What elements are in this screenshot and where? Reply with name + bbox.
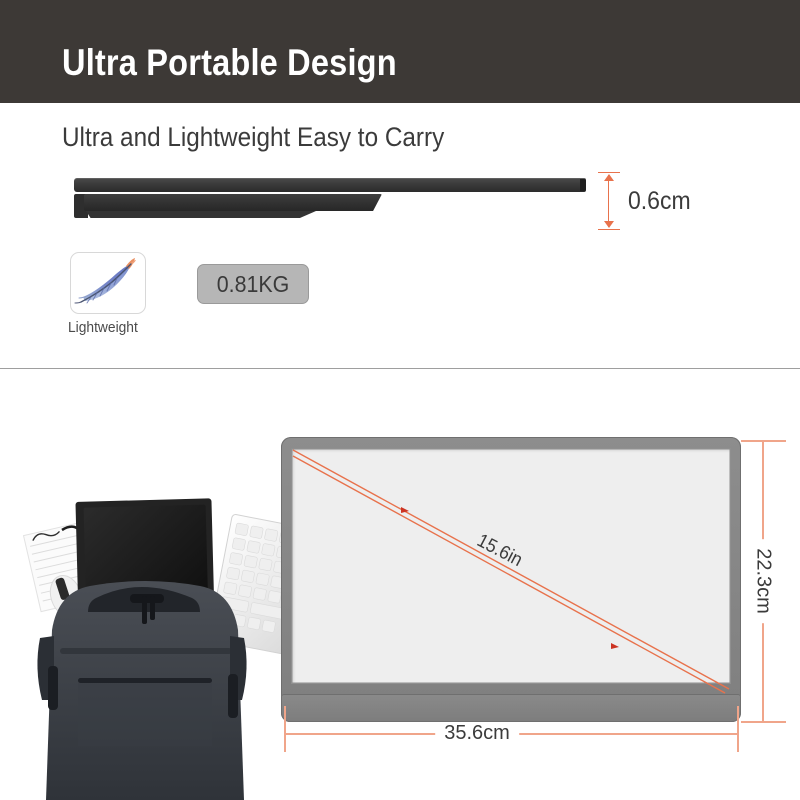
page-title: Ultra Portable Design xyxy=(62,42,397,84)
thickness-dimension-arrow xyxy=(598,172,620,230)
profile-upper-slab xyxy=(74,178,586,192)
backpack-illustration xyxy=(37,581,246,800)
monitor-side-profile-illustration xyxy=(66,178,586,224)
weight-value: 0.81KG xyxy=(217,271,290,298)
dimension-cap-top xyxy=(598,172,620,173)
dimension-cap-bottom xyxy=(598,229,620,230)
lightweight-caption: Lightweight xyxy=(68,319,138,336)
arrow-head-up-icon xyxy=(604,174,614,181)
profile-lip xyxy=(86,211,316,218)
height-tick-bottom xyxy=(741,721,786,723)
backpack-with-monitor-photo xyxy=(0,478,290,800)
monitor-base-chin xyxy=(281,694,741,722)
arrow-head-down-icon xyxy=(604,221,614,228)
weight-badge: 0.81KG xyxy=(197,264,309,304)
width-tick-right xyxy=(737,706,739,752)
width-label: 35.6cm xyxy=(435,722,519,745)
lightweight-feather-card xyxy=(70,252,146,314)
profile-lower-slab xyxy=(84,194,382,211)
height-label: 22.3cm xyxy=(752,539,775,623)
section-divider xyxy=(0,368,800,369)
thickness-label: 0.6cm xyxy=(628,187,691,216)
section-subtitle: Ultra and Lightweight Easy to Carry xyxy=(62,122,444,153)
feather-icon xyxy=(71,253,145,313)
height-tick-top xyxy=(741,440,786,442)
dimension-shaft xyxy=(608,175,609,227)
width-tick-left xyxy=(284,706,286,752)
